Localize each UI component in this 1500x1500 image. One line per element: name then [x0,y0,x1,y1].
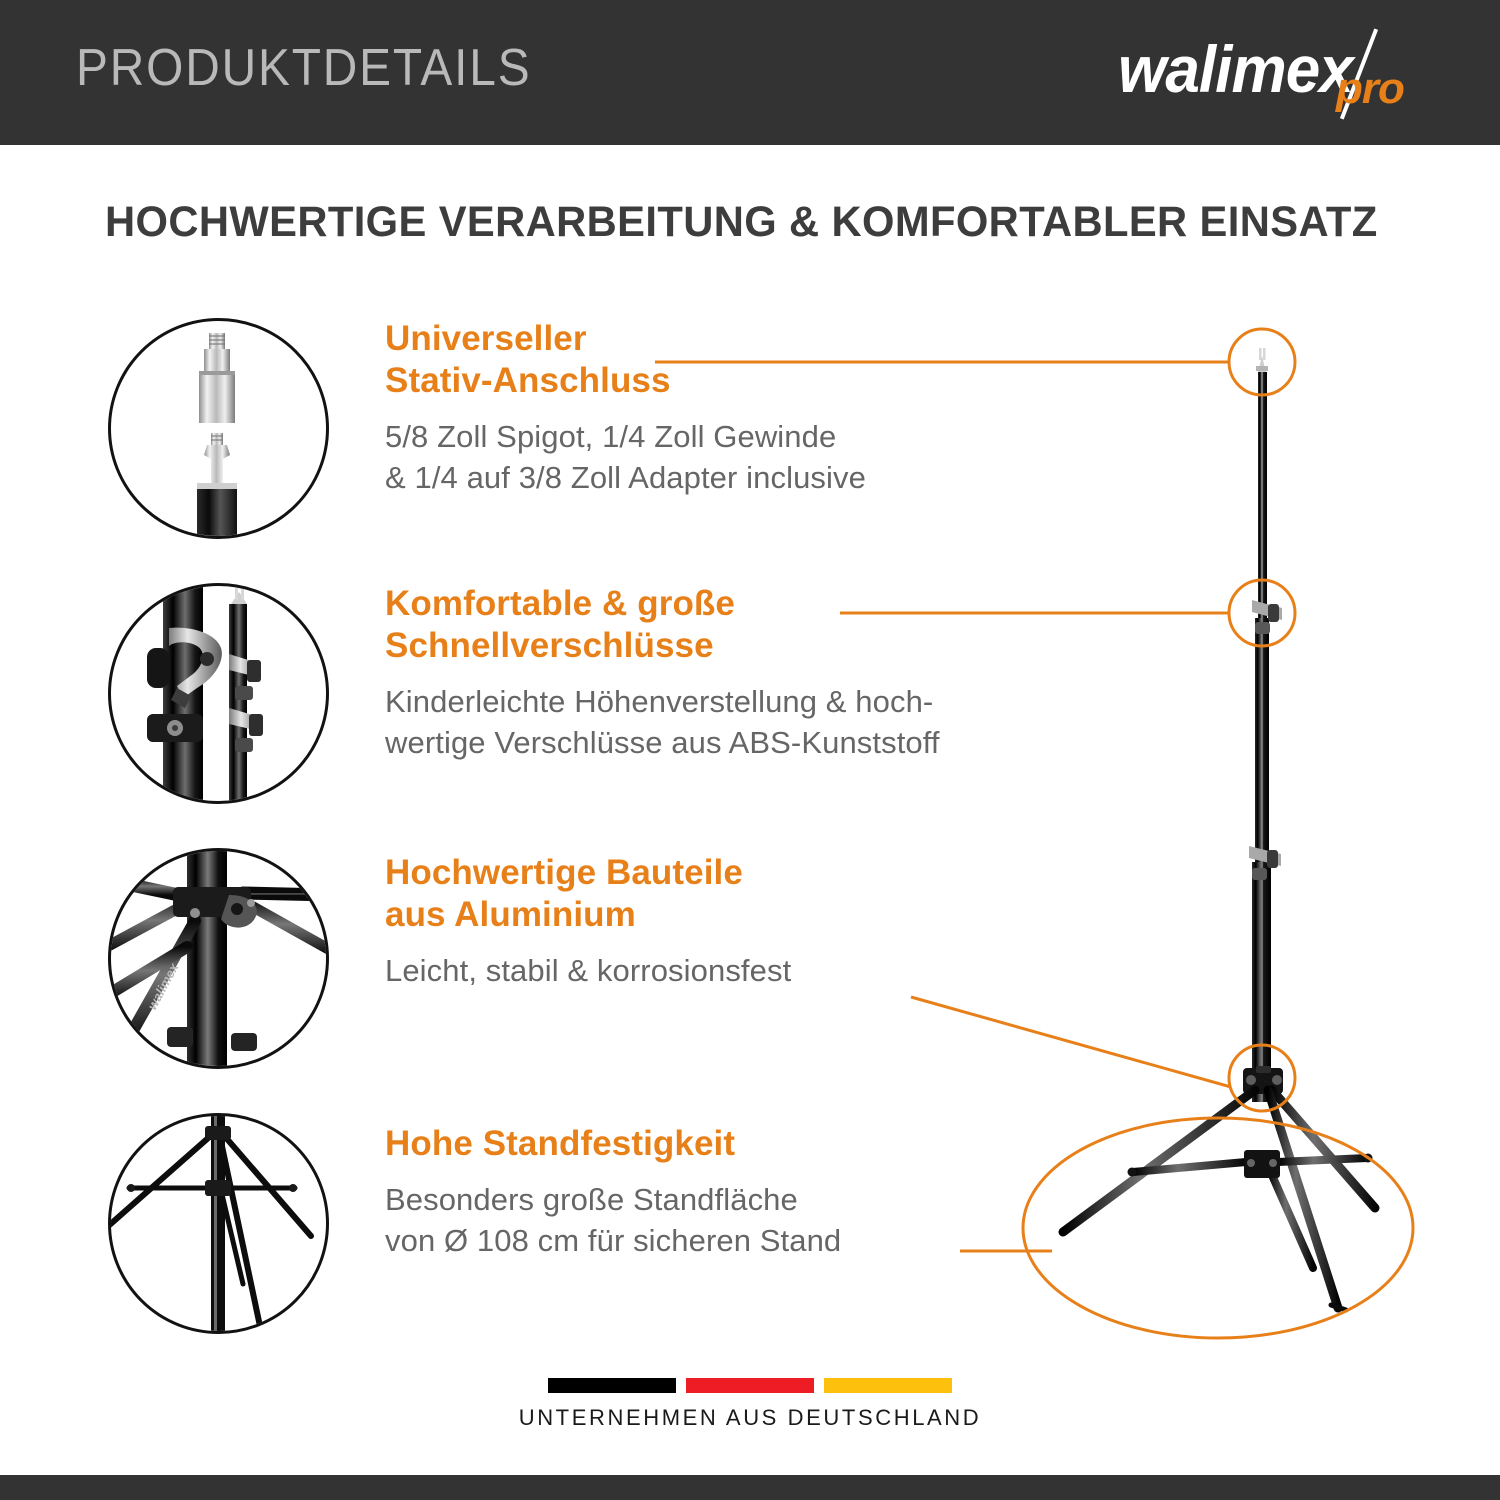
feature-title: Komfortable & große Schnellverschlüsse [385,583,1105,667]
product-details-infographic: PRODUKTDETAILS walimex pro HOCHWERTIGE V… [0,0,1500,1500]
flag-bar-black [548,1378,676,1393]
feature-desc-line2: & 1/4 auf 3/8 Zoll Adapter inclusive [385,457,1105,498]
spigot-adapter-photo [108,318,329,539]
tripod-base-photo [108,1113,329,1334]
spigot-callout-circle [1229,329,1295,395]
top-spigot [1256,348,1268,372]
feature-title-line1: Hohe Standfestigkeit [385,1123,1105,1165]
tripod-braces [1128,1150,1373,1268]
quick-release-lock [1252,600,1282,634]
section-headline: HOCHWERTIGE VERARBEITUNG & KOMFORTABLER … [105,198,1378,247]
page-title: PRODUKTDETAILS [76,38,532,98]
feature-desc-line2: von Ø 108 cm für sicheren Stand [385,1220,1105,1261]
quick-release-lock-photo [108,583,329,804]
feature-title-line2: aus Aluminium [385,894,1105,936]
feature-title: Hohe Standfestigkeit [385,1123,1105,1165]
feature-description: Kinderleichte Höhenverstellung & hoch- w… [385,681,1105,763]
feature-title-line1: Hochwertige Bauteile [385,852,1105,894]
feature-description: Besonders große Standfläche von Ø 108 cm… [385,1179,1105,1261]
yoke-callout-circle [1229,1045,1295,1111]
stand-column [1252,372,1271,1102]
feature-text-block: Hochwertige Bauteile aus Aluminium Leich… [385,852,1105,991]
feature-title-line1: Komfortable & große [385,583,1105,625]
yoke-callout-line [911,997,1231,1087]
logo-suffix-text: pro [1336,64,1404,114]
tripod-legs [1063,1090,1375,1310]
lock-callout-circle [1229,580,1295,646]
german-flag-bars [0,1378,1500,1393]
logo-brand-text: walimex [1118,31,1353,107]
aluminium-yoke-photo: walimex [108,848,329,1069]
made-in-germany-badge: UNTERNEHMEN AUS DEUTSCHLAND [0,1378,1500,1431]
feature-title-line2: Schnellverschlüsse [385,625,1105,667]
feature-title: Universeller Stativ-Anschluss [385,318,1105,402]
quick-release-lock-lower [1249,846,1281,880]
feature-text-block: Hohe Standfestigkeit Besonders große Sta… [385,1123,1105,1261]
feature-desc-line1: Besonders große Standfläche [385,1179,1105,1220]
header-bar: PRODUKTDETAILS walimex pro [0,0,1500,145]
walimex-pro-logo: walimex pro [1118,28,1448,120]
feature-text-block: Universeller Stativ-Anschluss 5/8 Zoll S… [385,318,1105,498]
feature-desc-line1: Kinderleichte Höhenverstellung & hoch- [385,681,1105,722]
aluminium-yoke [1243,1066,1283,1094]
feature-description: Leicht, stabil & korrosionsfest [385,950,1105,991]
feature-desc-line1: 5/8 Zoll Spigot, 1/4 Zoll Gewinde [385,416,1105,457]
footer-bar [0,1475,1500,1500]
feature-description: 5/8 Zoll Spigot, 1/4 Zoll Gewinde & 1/4 … [385,416,1105,498]
flag-bar-gold [824,1378,952,1393]
feature-title: Hochwertige Bauteile aus Aluminium [385,852,1105,936]
flag-bar-red [686,1378,814,1393]
feature-title-line1: Universeller [385,318,1105,360]
feature-text-block: Komfortable & große Schnellverschlüsse K… [385,583,1105,763]
feature-desc-line2: wertige Verschlüsse aus ABS-Kunststoff [385,722,1105,763]
feature-desc-line1: Leicht, stabil & korrosionsfest [385,950,1105,991]
footer-caption: UNTERNEHMEN AUS DEUTSCHLAND [0,1405,1500,1431]
feature-title-line2: Stativ-Anschluss [385,360,1105,402]
